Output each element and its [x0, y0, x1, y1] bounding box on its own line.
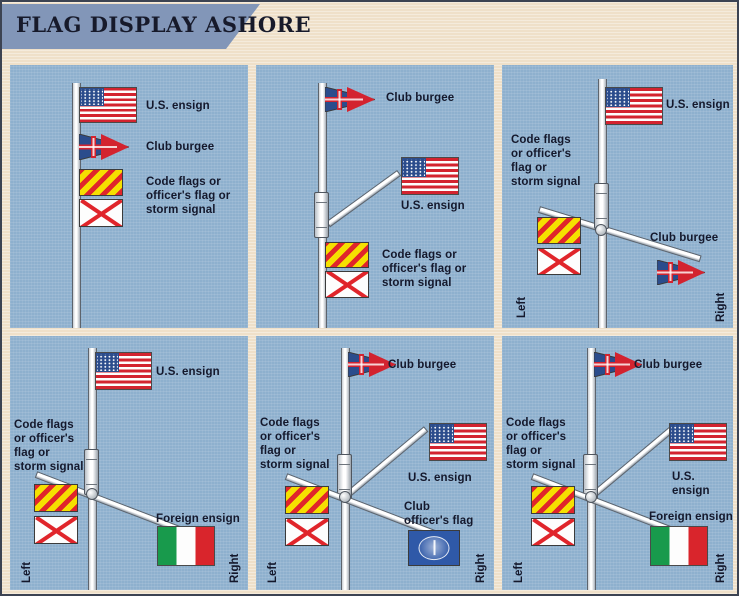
- us-ensign-flag: [401, 157, 459, 195]
- label-us-ensign: U.S. ensign: [666, 98, 730, 112]
- us-ensign-flag: [669, 423, 727, 461]
- foreign-ensign-flag: [157, 526, 215, 566]
- label-code-flags: Code flags or officer's flag or storm si…: [511, 133, 581, 189]
- us-flag-canton: [430, 424, 454, 443]
- club-officers-flag: [408, 530, 460, 566]
- club-burgee-flag: [325, 87, 375, 112]
- gaff-spar: [326, 170, 401, 227]
- yardarm-hub: [86, 488, 98, 500]
- code-flag-yellow: [34, 484, 78, 512]
- panel-pole-with-yardarm: U.S. ensign Code flags or officer's flag…: [502, 65, 733, 328]
- gaff-collar: [314, 192, 329, 238]
- panel-yardarm-foreign-ensign: U.S. ensign Code flags or officer's flag…: [10, 336, 248, 590]
- panel-gaff-yardarm-foreign: Club burgee Code flags or officer's flag…: [502, 336, 733, 590]
- label-right: Right: [715, 293, 727, 322]
- label-foreign-ensign: Foreign ensign: [156, 512, 240, 526]
- label-club-burgee: Club burgee: [146, 140, 214, 154]
- yardarm-hub: [585, 491, 597, 503]
- label-us-ensign: U.S. ensign: [156, 365, 220, 379]
- gaff-spar: [346, 426, 429, 497]
- label-us-ensign: U.S. ensign: [672, 470, 733, 498]
- code-flag-yellow: [531, 486, 575, 514]
- yardarm-collar: [594, 183, 609, 229]
- code-flag-saltire: [531, 518, 575, 546]
- code-flag-yellow: [79, 169, 123, 196]
- code-flag-yellow: [285, 486, 329, 514]
- label-left: Left: [516, 297, 528, 318]
- foreign-ensign-flag: [650, 526, 708, 566]
- label-right: Right: [715, 554, 727, 583]
- code-flag-saltire: [537, 248, 581, 275]
- label-foreign-ensign: Foreign ensign: [649, 510, 733, 524]
- panel-gaff-yardarm-officer: Club burgee Code flags or officer's flag…: [256, 336, 494, 590]
- yardarm-hub: [339, 491, 351, 503]
- us-ensign-flag: [95, 352, 152, 390]
- us-ensign-flag: [605, 87, 663, 125]
- label-code-flags: Code flags or officer's flag or storm si…: [506, 416, 576, 472]
- club-burgee-flag: [657, 260, 705, 285]
- label-right: Right: [475, 554, 487, 583]
- label-code-flags: Code flags or officer's flag or storm si…: [260, 416, 330, 472]
- us-ensign-flag: [79, 87, 137, 123]
- yardarm-hub: [595, 224, 607, 236]
- officer-flag-emblem: [419, 536, 450, 560]
- club-burgee-flag: [79, 134, 129, 160]
- code-flag-saltire: [79, 199, 123, 227]
- us-flag-canton: [80, 88, 104, 106]
- label-club-burgee: Club burgee: [650, 231, 718, 245]
- label-left: Left: [21, 562, 33, 583]
- label-us-ensign: U.S. ensign: [408, 471, 472, 485]
- label-club-officers-flag: Club officer's flag: [404, 500, 473, 528]
- label-club-burgee: Club burgee: [388, 358, 456, 372]
- code-flag-saltire: [325, 271, 369, 298]
- us-ensign-flag: [429, 423, 487, 461]
- panel-plain-pole: U.S. ensign Club burgee Code flags or of…: [10, 65, 248, 328]
- label-code-flags: Code flags or officer's flag or storm si…: [146, 175, 230, 217]
- label-us-ensign: U.S. ensign: [401, 199, 465, 213]
- flag-display-diagram: FLAG DISPLAY ASHORE U.S. ensign Club bur…: [0, 0, 739, 596]
- label-club-burgee: Club burgee: [386, 91, 454, 105]
- page-title: FLAG DISPLAY ASHORE: [16, 12, 311, 37]
- code-flag-yellow: [325, 242, 369, 268]
- label-code-flags: Code flags or officer's flag or storm si…: [14, 418, 84, 474]
- label-left: Left: [267, 562, 279, 583]
- label-code-flags: Code flags or officer's flag or storm si…: [382, 248, 466, 290]
- label-left: Left: [513, 562, 525, 583]
- label-us-ensign: U.S. ensign: [146, 99, 210, 113]
- panel-pole-with-gaff: Club burgee U.S. ensign Code flags or of…: [256, 65, 494, 328]
- gaff-spar: [592, 426, 675, 497]
- us-flag-canton: [670, 424, 694, 443]
- us-flag-canton: [402, 158, 426, 177]
- code-flag-saltire: [285, 518, 329, 546]
- label-right: Right: [229, 554, 241, 583]
- us-flag-canton: [606, 88, 630, 107]
- us-flag-canton: [96, 353, 119, 372]
- code-flag-saltire: [34, 516, 78, 544]
- label-club-burgee: Club burgee: [634, 358, 702, 372]
- code-flag-yellow: [537, 217, 581, 244]
